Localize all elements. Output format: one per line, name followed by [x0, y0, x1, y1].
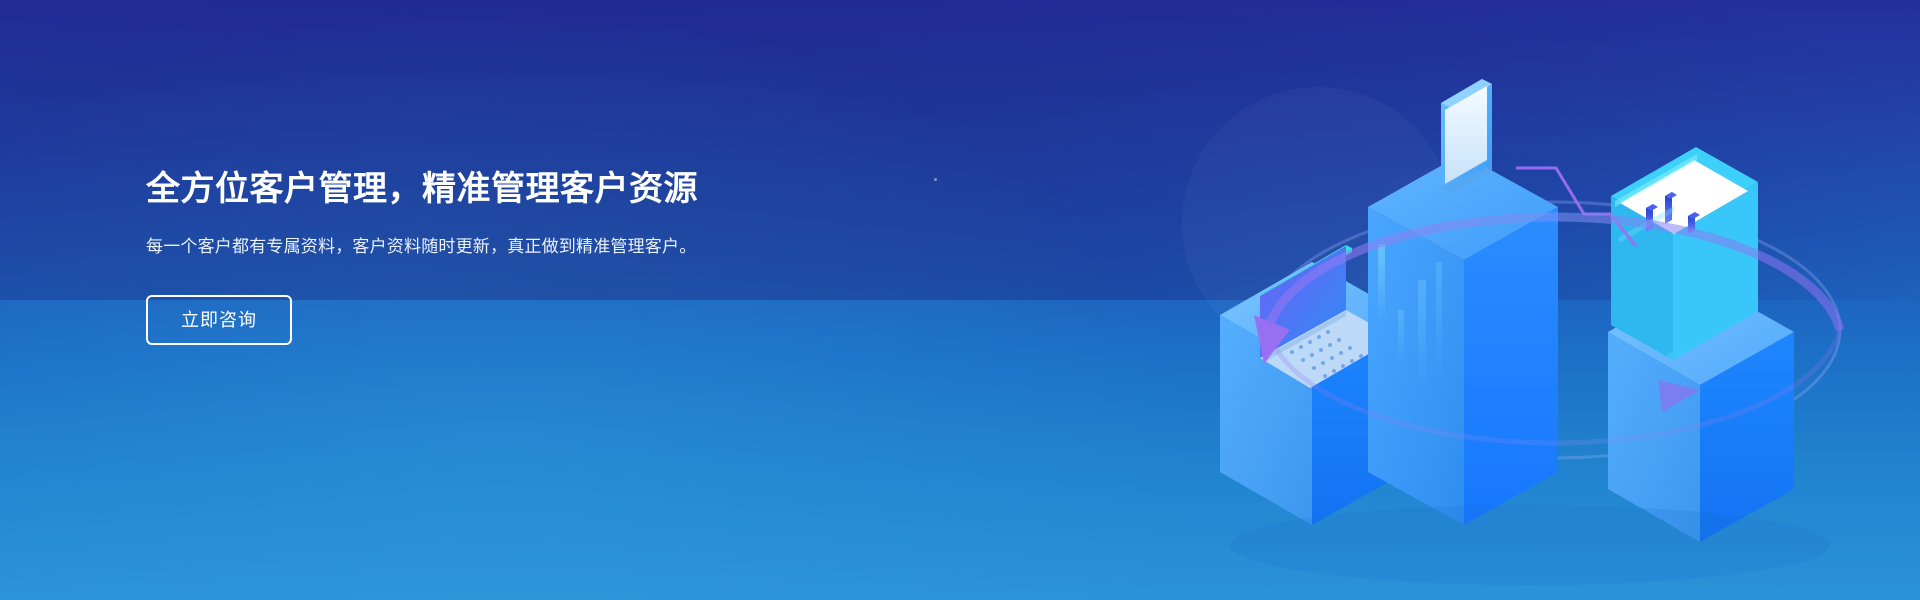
hero-copy-block: 全方位客户管理，精准管理客户资源 每一个客户都有专属资料，客户资料随时更新，真正…: [146, 166, 866, 345]
consult-now-button[interactable]: 立即咨询: [146, 295, 292, 345]
tall-pedestal-streak-2: [1398, 310, 1404, 365]
hero-illustration: [1160, 0, 1920, 600]
tall-pedestal-streak-3: [1418, 280, 1426, 390]
hero-banner: 全方位客户管理，精准管理客户资源 每一个客户都有专属资料，客户资料随时更新，真正…: [0, 0, 1920, 600]
isometric-data-platform-graphic: [1160, 0, 1920, 600]
ground-shadow: [1230, 505, 1830, 585]
hero-subcopy: 每一个客户都有专属资料，客户资料随时更新，真正做到精准管理客户。: [146, 234, 726, 260]
tall-pedestal-streak-4: [1436, 262, 1442, 382]
tall-pedestal-streak-1: [1378, 244, 1385, 324]
hero-headline: 全方位客户管理，精准管理客户资源: [146, 166, 866, 212]
decorative-dot: [934, 178, 937, 181]
center-tall-pedestal: [1368, 154, 1558, 525]
